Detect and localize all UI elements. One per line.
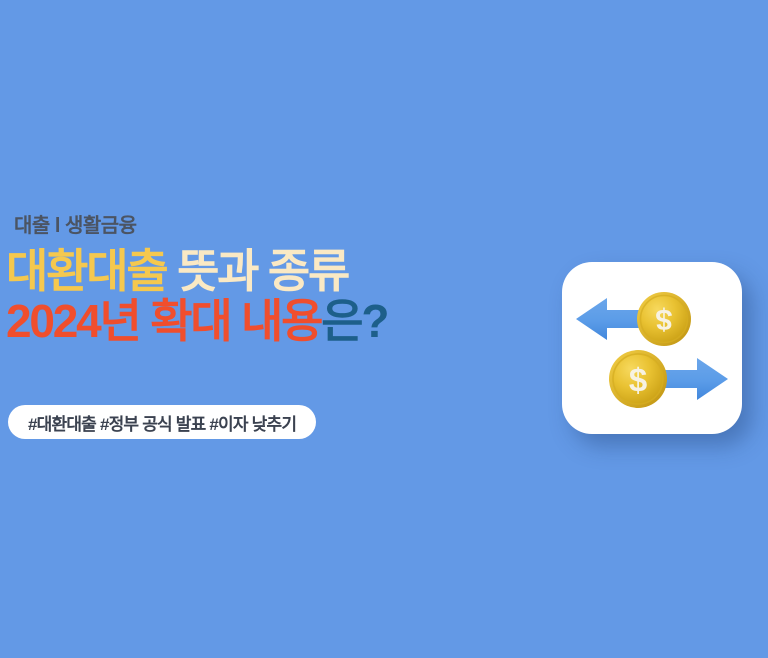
coin-bottom-icon: $ — [609, 350, 667, 408]
text-block: 대출 l 생활금융 대환대출 뜻과 종류 2024년 확대 내용은? — [0, 214, 560, 349]
headline-line-1: 대환대출 뜻과 종류 — [0, 244, 560, 298]
hashtag-pill: #대환대출 #정부 공식 발표 #이자 낮추기 — [8, 405, 316, 439]
thumbnail-canvas: 대출 l 생활금융 대환대출 뜻과 종류 2024년 확대 내용은? #대환대출… — [0, 0, 768, 658]
svg-text:$: $ — [655, 303, 672, 336]
loan-swap-icon: $ $ — [562, 262, 742, 434]
icon-card-inner: $ $ — [562, 262, 742, 434]
icon-card: $ $ — [562, 262, 742, 434]
headline-line-1-part-2: 뜻과 종류 — [166, 245, 348, 297]
headline-line-2-part-1: 2024년 확대 내용 — [6, 295, 321, 347]
headline-line-2-part-2: 은? — [321, 295, 387, 347]
coin-top-icon: $ — [637, 292, 691, 346]
eyebrow-category-label: 대출 l 생활금융 — [14, 214, 560, 238]
hashtag-pill-label: #대환대출 #정부 공식 발표 #이자 낮추기 — [28, 410, 296, 435]
headline-line-2: 2024년 확대 내용은? — [0, 294, 560, 348]
headline-line-1-part-1: 대환대출 — [6, 245, 166, 297]
svg-text:$: $ — [629, 362, 647, 399]
